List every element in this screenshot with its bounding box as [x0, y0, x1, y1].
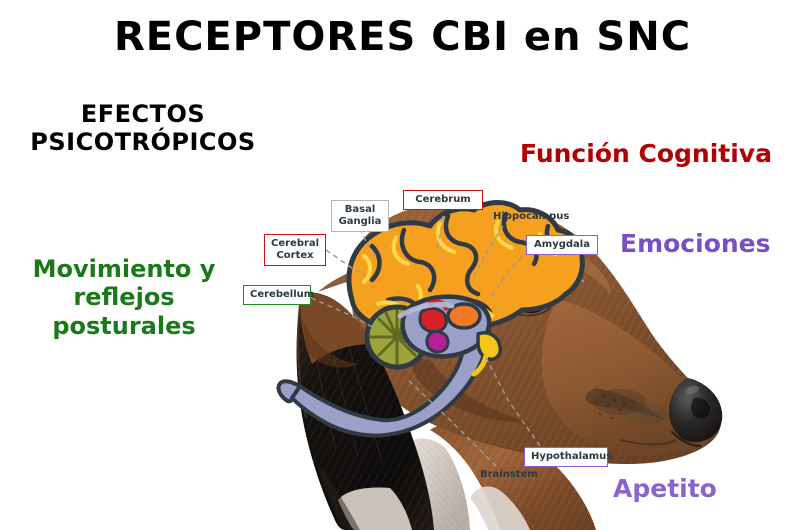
callout-cerebral-cortex: Cerebral Cortex	[264, 234, 326, 266]
annotation-efectos-psicotropicos: EFECTOS PSICOTRÓPICOS	[18, 100, 268, 157]
callout-cerebrum: Cerebrum	[403, 190, 483, 210]
annotation-movimiento-reflejos: Movimiento y reflejos posturales	[14, 255, 234, 340]
page-title: RECEPTORES CBI en SNC	[0, 14, 805, 60]
slide-canvas: RECEPTORES CBI en SNC EFECTOS PSICOTRÓPI…	[0, 0, 805, 530]
annotation-funcion-cognitiva: Función Cognitiva	[520, 139, 772, 169]
annotation-emociones: Emociones	[620, 229, 771, 259]
callout-cerebellum: Cerebellum	[243, 285, 311, 305]
annotation-apetito: Apetito	[613, 474, 717, 504]
callout-hypothalamus: Hypothalamus	[524, 447, 608, 467]
hypothalamus-shape	[478, 333, 500, 360]
callout-amygdala: Amygdala	[526, 235, 598, 255]
callout-basal-ganglia: Basal Ganglia	[331, 200, 389, 232]
amygdala-shape	[427, 331, 448, 352]
callout-brainstem: Brainstem	[480, 469, 538, 481]
callout-hippocampus: Hippocampus	[493, 211, 569, 223]
hippocampus-shape	[420, 308, 446, 332]
